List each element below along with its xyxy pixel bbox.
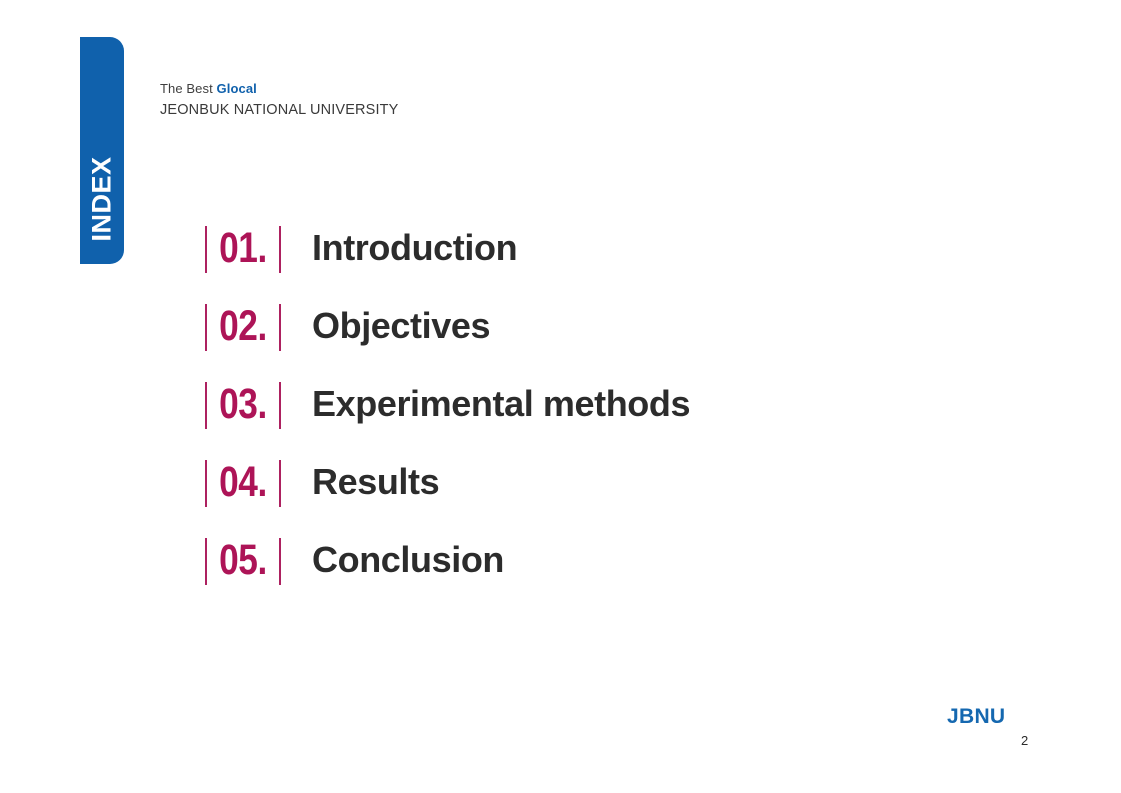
left-rule-divider	[205, 304, 207, 351]
left-rule-divider	[205, 538, 207, 585]
index-list-item[interactable]: 01. Introduction	[205, 222, 1005, 300]
right-rule-divider	[279, 538, 281, 585]
university-header-lockup: The Best Glocal JEONBUK NATIONAL UNIVERS…	[160, 81, 399, 119]
tagline-highlight: Glocal	[217, 81, 257, 96]
index-item-title: Introduction	[312, 222, 517, 274]
page-number: 2	[1021, 733, 1028, 749]
index-item-title: Results	[312, 456, 439, 508]
left-rule-divider	[205, 226, 207, 273]
index-item-number: 05.	[213, 534, 272, 586]
index-item-title: Experimental methods	[312, 378, 690, 430]
index-item-title: Conclusion	[312, 534, 504, 586]
index-item-number: 03.	[213, 378, 272, 430]
left-rule-divider	[205, 460, 207, 507]
index-list-item[interactable]: 03. Experimental methods	[205, 378, 1005, 456]
index-side-tab-label: INDEX	[87, 156, 118, 241]
right-rule-divider	[279, 226, 281, 273]
index-side-tab-label-wrap: INDEX	[80, 134, 124, 264]
left-rule-divider	[205, 382, 207, 429]
right-rule-divider	[279, 460, 281, 507]
index-side-tab: INDEX	[80, 37, 124, 264]
index-item-number: 04.	[213, 456, 272, 508]
index-list-item[interactable]: 02. Objectives	[205, 300, 1005, 378]
index-item-number: 01.	[213, 222, 272, 274]
index-list: 01. Introduction 02. Objectives 03. Expe…	[205, 222, 1005, 612]
jbnu-logo: JBNU	[947, 705, 1005, 729]
index-item-number: 02.	[213, 300, 272, 352]
index-item-title: Objectives	[312, 300, 490, 352]
right-rule-divider	[279, 382, 281, 429]
right-rule-divider	[279, 304, 281, 351]
tagline-prefix: The Best	[160, 81, 217, 96]
index-list-item[interactable]: 05. Conclusion	[205, 534, 1005, 612]
university-tagline: The Best Glocal	[160, 81, 399, 97]
university-name: JEONBUK NATIONAL UNIVERSITY	[160, 102, 399, 119]
index-list-item[interactable]: 04. Results	[205, 456, 1005, 534]
